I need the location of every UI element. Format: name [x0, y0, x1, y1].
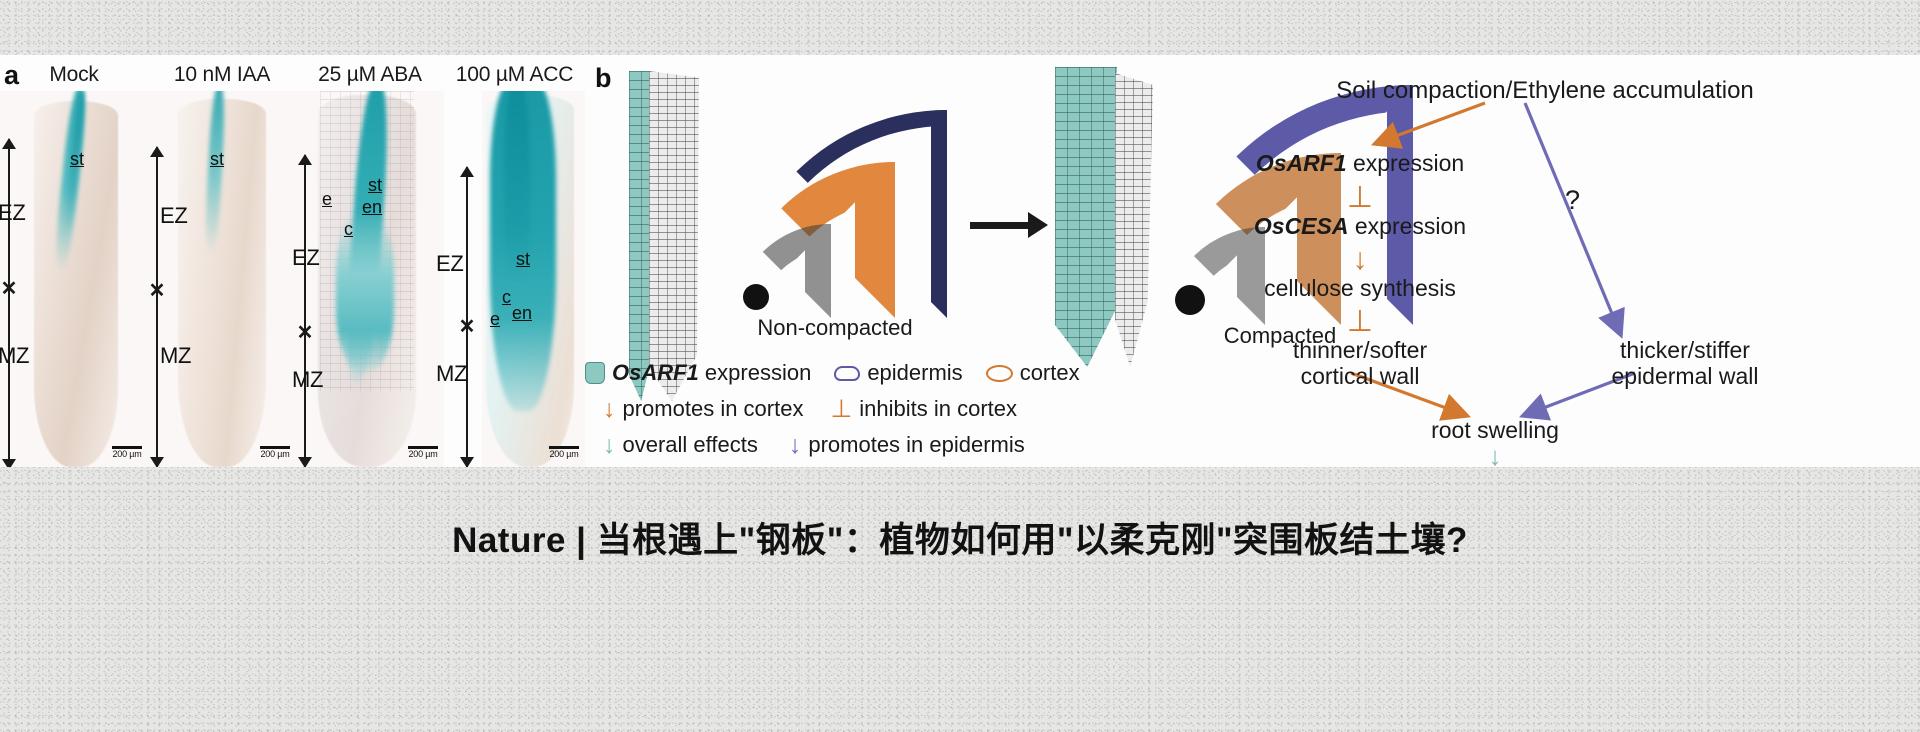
scale-bar-iaa: 200 µm [260, 446, 290, 459]
zone-label-ez: EZ [160, 203, 188, 229]
scale-bar-acc: 200 µm [549, 446, 579, 459]
zone-label-mz: MZ [292, 367, 323, 393]
longitudinal-root-noncompacted [627, 71, 707, 401]
legend-label: overall effects [623, 432, 758, 458]
tissue-label-c: c [344, 219, 353, 240]
zone-axis-iaa: ✕ [150, 147, 164, 467]
panel-b-letter: b [595, 63, 612, 94]
inhibit-bar-orange-icon: ⊥ [1195, 307, 1525, 337]
flow-node-soil-compaction: Soil compaction/Ethylene accumulation [1200, 77, 1890, 104]
flow-node-thinner-softer-cortical-wall: thinner/softer cortical wall [1195, 337, 1525, 389]
tissue-label-en: en [362, 197, 382, 218]
flow-node-text: expression [1347, 150, 1465, 176]
legend-label: epidermis [867, 360, 962, 386]
down-arrow-purple-icon: ↓ [789, 433, 802, 458]
legend-item-osarf1-expression: OsARF1 expression [585, 360, 811, 386]
tissue-label-c: c [502, 287, 511, 308]
micrograph-title-mock: Mock [0, 63, 148, 87]
micrograph-image-iaa: st 200 µm [148, 91, 296, 467]
longitudinal-root-compacted [1055, 67, 1165, 367]
flow-node-osarf1-expression: OsARF1 expression [1195, 150, 1525, 176]
legend-row: ↓ promotes in cortex ⊥ inhibits in corte… [585, 391, 1145, 427]
pith-marker [743, 284, 769, 310]
micrograph-column-mock: Mock st 200 µm ✕ EZ MZ [0, 55, 148, 467]
micrograph-title-aba: 25 µM ABA [296, 63, 444, 87]
zone-label-mz: MZ [0, 343, 29, 369]
legend-item-promotes-in-epidermis: ↓ promotes in epidermis [789, 432, 1025, 458]
scale-bar-label: 200 µm [260, 449, 290, 459]
legend-item-epidermis: epidermis [834, 360, 962, 386]
tissue-label-st: st [70, 149, 84, 170]
legend-label-italic: OsARF1 [612, 360, 699, 385]
inhibit-bar-orange-icon: ⊥ [830, 397, 852, 422]
zone-axis-mock: ✕ [2, 139, 16, 467]
panel-b-legend: OsARF1 expression epidermis cortex ↓ pro… [585, 355, 1145, 463]
flow-node-gene: OsCESA [1254, 213, 1349, 239]
zone-divider-mark: ✕ [0, 279, 19, 299]
panel-b-flowchart: Soil compaction/Ethylene accumulation Os… [1165, 55, 1920, 467]
flow-node-oscesa-expression: OsCESA expression [1195, 213, 1525, 239]
zone-label-ez: EZ [0, 200, 26, 226]
zone-axis-aba: ✕ [298, 155, 312, 467]
title-bar: Nature | 当根遇上"钢板"：植物如何用"以柔克刚"突围板结土壤? [0, 467, 1920, 732]
zone-label-mz: MZ [160, 343, 191, 369]
zone-divider-mark: ✕ [457, 317, 477, 337]
tissue-label-st: st [516, 249, 530, 270]
flow-node-gene: OsARF1 [1256, 150, 1347, 176]
micrograph-column-aba: 25 µM ABA e st en c 200 µm ✕ EZ [296, 55, 444, 467]
flow-node-thicker-stiffer-epidermal-wall: thicker/stiffer epidermal wall [1520, 337, 1850, 389]
legend-label: cortex [1020, 360, 1080, 386]
legend-label: inhibits in cortex [859, 396, 1017, 422]
epidermis-outline-icon [834, 366, 860, 381]
legend-item-cortex: cortex [986, 360, 1080, 386]
zone-axis-acc: ✕ [460, 167, 474, 467]
micrograph-image-aba: e st en c 200 µm [296, 91, 444, 467]
micrograph-column-iaa: 10 nM IAA st 200 µm ✕ EZ MZ [148, 55, 296, 467]
legend-row: OsARF1 expression epidermis cortex [585, 355, 1145, 391]
micrograph-title-iaa: 10 nM IAA [148, 63, 296, 87]
tissue-label-st: st [368, 175, 382, 196]
legend-label: expression [699, 360, 812, 385]
down-arrow-teal-icon: ↓ [1355, 443, 1635, 467]
legend-label: promotes in epidermis [808, 432, 1024, 458]
figure-board: a Mock st 200 µm ✕ EZ MZ [0, 55, 1920, 467]
micrograph-image-mock: st 200 µm [0, 91, 148, 467]
down-arrow-teal-icon: ↓ [603, 433, 616, 458]
scale-bar-aba: 200 µm [408, 446, 438, 459]
page-title: Nature | 当根遇上"钢板"：植物如何用"以柔克刚"突围板结土壤? [452, 512, 1468, 563]
tissue-label-st: st [210, 149, 224, 170]
scale-bar-mock: 200 µm [112, 446, 142, 459]
legend-item-inhibits-in-cortex: ⊥ inhibits in cortex [830, 396, 1017, 422]
zone-divider-mark: ✕ [147, 281, 167, 301]
cross-section-caption-noncompacted: Non-compacted [715, 315, 955, 341]
legend-item-promotes-in-cortex: ↓ promotes in cortex [603, 396, 803, 422]
micrograph-title-acc: 100 µM ACC [444, 63, 585, 87]
flow-node-root-swelling: root swelling [1355, 417, 1635, 443]
tissue-label-e: e [490, 309, 500, 330]
tissue-label-en: en [512, 303, 532, 324]
flow-node-cellulose-synthesis: cellulose synthesis [1195, 275, 1525, 301]
cross-section-noncompacted: Non-compacted [735, 103, 955, 318]
legend-row: ↓ overall effects ↓ promotes in epidermi… [585, 427, 1145, 463]
legend-label: promotes in cortex [623, 396, 804, 422]
scale-bar-label: 200 µm [408, 449, 438, 459]
teal-cell-icon [585, 362, 605, 384]
panel-a: a Mock st 200 µm ✕ EZ MZ [0, 55, 585, 467]
panel-b: b Non-compacted [585, 55, 1920, 467]
legend-item-overall-effects: ↓ overall effects [603, 432, 758, 458]
scale-bar-label: 200 µm [549, 449, 579, 459]
micrograph-column-acc: 100 µM ACC st c en e 200 µm ✕ EZ MZ [444, 55, 585, 467]
cortex-outline-icon [986, 365, 1013, 382]
inhibit-bar-orange-icon: ⊥ [1195, 183, 1525, 213]
flow-question-mark: ? [1565, 185, 1580, 216]
flow-node-text: expression [1348, 213, 1466, 239]
scale-bar-label: 200 µm [112, 449, 142, 459]
down-arrow-orange-icon: ↓ [603, 397, 616, 422]
zone-label-ez: EZ [292, 245, 320, 271]
down-arrow-orange-icon: ↓ [1195, 245, 1525, 275]
micrograph-image-acc: st c en e 200 µm [482, 91, 585, 467]
zone-divider-mark: ✕ [295, 323, 315, 343]
zone-label-ez: EZ [436, 251, 464, 277]
zone-label-mz: MZ [436, 361, 467, 387]
tissue-label-e: e [322, 189, 332, 210]
